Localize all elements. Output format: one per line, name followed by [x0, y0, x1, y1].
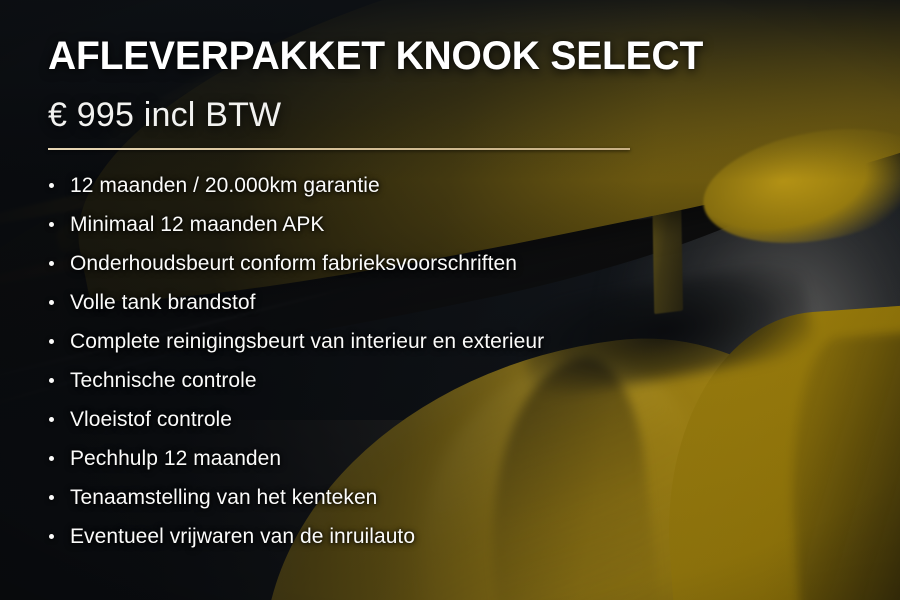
- list-item: Technische controle: [48, 361, 768, 400]
- list-item: Vloeistof controle: [48, 400, 768, 439]
- list-item: Complete reinigingsbeurt van interieur e…: [48, 322, 768, 361]
- bullet-icon: [49, 183, 54, 188]
- list-item: Minimaal 12 maanden APK: [48, 205, 768, 244]
- list-item-label: Onderhoudsbeurt conform fabrieksvoorschr…: [70, 252, 517, 276]
- bullet-icon: [49, 456, 54, 461]
- bullet-icon: [49, 222, 54, 227]
- list-item-label: Technische controle: [70, 369, 257, 393]
- price-label: € 995 incl BTW: [48, 96, 281, 134]
- list-item: Eventueel vrijwaren van de inruilauto: [48, 517, 768, 556]
- bullet-icon: [49, 261, 54, 266]
- bullet-icon: [49, 339, 54, 344]
- list-item-label: Tenaamstelling van het kenteken: [70, 486, 377, 510]
- list-item: Onderhoudsbeurt conform fabrieksvoorschr…: [48, 244, 768, 283]
- list-item: Pechhulp 12 maanden: [48, 439, 768, 478]
- bullet-icon: [49, 378, 54, 383]
- list-item-label: Vloeistof controle: [70, 408, 232, 432]
- list-item: Volle tank brandstof: [48, 283, 768, 322]
- list-item: 12 maanden / 20.000km garantie: [48, 166, 768, 205]
- list-item-label: Minimaal 12 maanden APK: [70, 213, 324, 237]
- bullet-icon: [49, 534, 54, 539]
- list-item-label: Volle tank brandstof: [70, 291, 255, 315]
- bullet-icon: [49, 495, 54, 500]
- promo-content: AFLEVERPAKKET KNOOK SELECT € 995 incl BT…: [0, 0, 900, 600]
- list-item: Tenaamstelling van het kenteken: [48, 478, 768, 517]
- bullet-icon: [49, 417, 54, 422]
- title-divider: [48, 148, 630, 150]
- list-item-label: Complete reinigingsbeurt van interieur e…: [70, 330, 544, 354]
- list-item-label: 12 maanden / 20.000km garantie: [70, 174, 380, 198]
- feature-list: 12 maanden / 20.000km garantieMinimaal 1…: [48, 166, 768, 556]
- list-item-label: Pechhulp 12 maanden: [70, 447, 281, 471]
- list-item-label: Eventueel vrijwaren van de inruilauto: [70, 525, 415, 549]
- bullet-icon: [49, 300, 54, 305]
- promo-banner: AFLEVERPAKKET KNOOK SELECT € 995 incl BT…: [0, 0, 900, 600]
- page-title: AFLEVERPAKKET KNOOK SELECT: [48, 34, 703, 78]
